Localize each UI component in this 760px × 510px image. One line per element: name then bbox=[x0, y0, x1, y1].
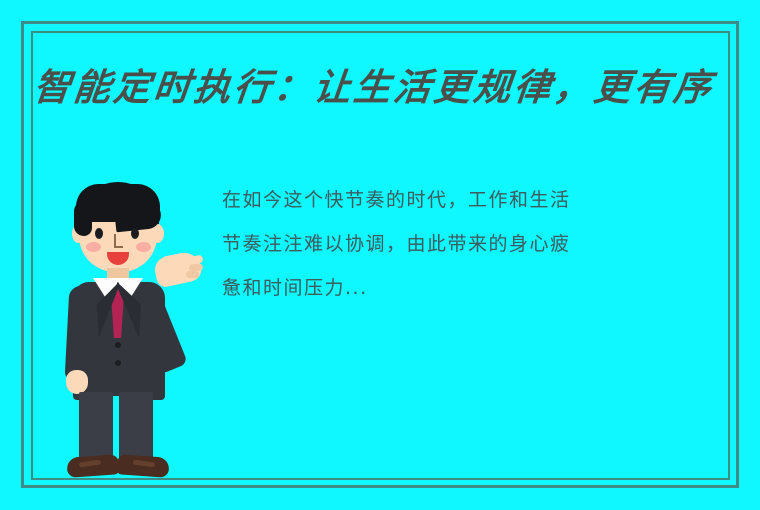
nose-icon bbox=[114, 234, 123, 248]
body-line-3: 惫和时间压力... bbox=[222, 266, 652, 310]
body-line-1: 在如今这个快节奏的时代，工作和生活 bbox=[222, 178, 652, 222]
finger-icon bbox=[186, 271, 199, 279]
eye-right-icon bbox=[131, 228, 139, 239]
poster-body: 在如今这个快节奏的时代，工作和生活 节奏注注难以协调，由此带来的身心疲 惫和时间… bbox=[222, 178, 652, 310]
jacket-button-icon bbox=[115, 360, 121, 366]
cheek-left-icon bbox=[86, 242, 101, 252]
businessman-illustration bbox=[55, 182, 205, 477]
cheek-right-icon bbox=[136, 242, 151, 252]
shoe-left-icon bbox=[66, 454, 119, 478]
eye-left-icon bbox=[95, 228, 103, 239]
hand-left-icon bbox=[66, 370, 88, 394]
hair-side-icon bbox=[74, 200, 92, 236]
body-line-2: 节奏注注难以协调，由此带来的身心疲 bbox=[222, 222, 652, 266]
arm-left-icon bbox=[65, 285, 96, 382]
jacket-button-icon bbox=[115, 342, 121, 348]
poster-canvas: 智能定时执行：让生活更规律，更有序 在如今这个快节奏的时代，工作和生活 节奏注注… bbox=[0, 0, 760, 510]
poster-title: 智能定时执行：让生活更规律，更有序 bbox=[31, 56, 737, 112]
